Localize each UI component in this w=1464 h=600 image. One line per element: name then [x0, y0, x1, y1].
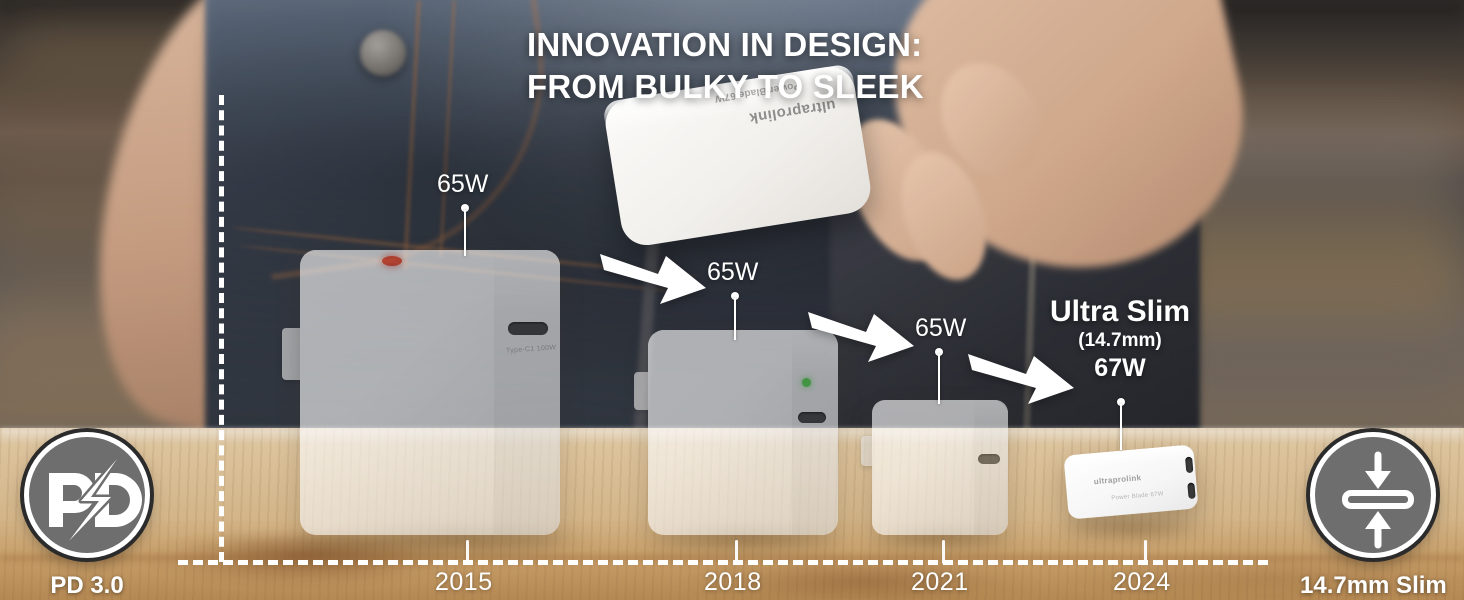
timeline-year-2018: 2018 — [704, 568, 762, 597]
callout-2015-line — [464, 210, 466, 256]
charger-2021 — [872, 400, 1008, 535]
callout-2018-line — [734, 298, 736, 340]
charger-2015-led — [382, 256, 402, 266]
headline-line-1: INNOVATION IN DESIGN: — [527, 24, 924, 66]
slim-compression-arrows-icon — [1315, 437, 1441, 563]
charger-2018-usbc-port — [798, 412, 826, 423]
charger-2024-shadow — [1060, 516, 1210, 542]
timeline-year-2015: 2015 — [435, 568, 493, 597]
ultra-slim-line — [1120, 404, 1122, 450]
charger-2015-bevel — [300, 250, 560, 313]
arrow-2 — [808, 306, 916, 364]
timeline-year-2021: 2021 — [911, 568, 969, 597]
callout-2015: 65W — [437, 170, 488, 199]
timeline-tick-2018 — [735, 540, 738, 564]
timeline-tick-2015 — [466, 540, 469, 564]
badge-pd-circle — [24, 432, 150, 558]
page-title: INNOVATION IN DESIGN: FROM BULKY TO SLEE… — [527, 24, 924, 108]
timeline-tick-2024 — [1144, 540, 1147, 564]
arrow-1 — [600, 248, 708, 306]
callout-2021-label: 65W — [915, 314, 966, 343]
charger-2021-usbc-port — [978, 454, 1000, 464]
charger-2018-led — [802, 378, 811, 387]
charger-2015: Type-C1 100W — [300, 250, 560, 535]
charger-2024: ultraprolink Power Blade 67W — [1063, 444, 1198, 519]
charger-2024-port-1 — [1185, 457, 1193, 474]
badge-slim-caption: 14.7mm Slim — [1300, 572, 1447, 600]
timeline-vertical-axis — [219, 95, 224, 562]
badge-pd-caption: PD 3.0 — [24, 572, 150, 600]
charger-2015-usbc-port — [508, 322, 548, 335]
callout-2021: 65W — [915, 314, 966, 343]
callout-2015-label: 65W — [437, 170, 488, 199]
callout-2018-label: 65W — [707, 258, 758, 287]
charger-2024-port-2 — [1187, 482, 1195, 499]
badge-pd: PD 3.0 — [24, 432, 150, 600]
callout-2018: 65W — [707, 258, 758, 287]
ultra-slim-title: Ultra Slim — [1030, 296, 1210, 328]
infographic-banner: Power Blade 67W ultraprolink Type-C1 100… — [0, 0, 1464, 600]
callout-2021-line — [938, 354, 940, 404]
timeline-year-2024: 2024 — [1113, 568, 1171, 597]
arrow-3 — [968, 348, 1076, 406]
timeline-horizontal-axis — [178, 560, 1268, 565]
timeline-tick-2021 — [942, 540, 945, 564]
badge-slim-circle — [1310, 432, 1436, 558]
headline-line-2: FROM BULKY TO SLEEK — [527, 66, 924, 108]
badge-slim: 14.7mm Slim — [1300, 432, 1447, 600]
power-delivery-bolt-icon — [29, 437, 155, 563]
